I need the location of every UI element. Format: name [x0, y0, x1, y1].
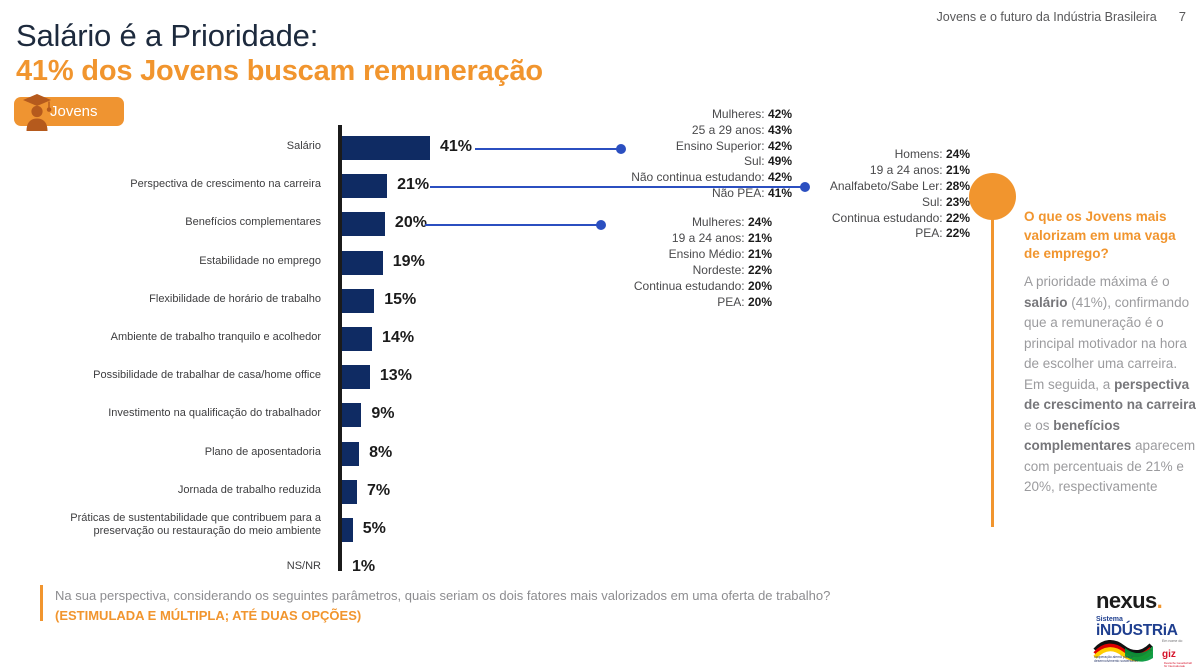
deck-title: Jovens e o futuro da Indústria Brasileir… [937, 10, 1157, 24]
callout-line-label: Nordeste: [693, 263, 748, 277]
callout-line-label: Mulheres: [692, 215, 748, 229]
callout-line-label: Não continua estudando: [631, 170, 768, 184]
footer-question-text: Na sua perspectiva, considerando os segu… [55, 588, 830, 603]
callout-line-label: Ensino Superior: [676, 139, 768, 153]
giz-logo-mark: giz [1162, 650, 1176, 660]
chart-value-label: 21% [397, 176, 429, 194]
nexus-logo-dot: . [1157, 588, 1163, 613]
callout-line-value: 28% [946, 179, 970, 193]
callout-line-label: 25 a 29 anos: [692, 123, 768, 137]
chart-value-label: 9% [371, 405, 394, 423]
callout-line-value: 24% [748, 215, 772, 229]
callout-line: Continua estudando: 20% [634, 279, 772, 295]
chart-bar [342, 442, 359, 466]
callout-line-label: Analfabeto/Sabe Ler: [830, 179, 946, 193]
callout-line: PEA: 20% [634, 295, 772, 311]
callout-line: Continua estudando: 22% [830, 211, 970, 227]
callout-line-value: 22% [946, 226, 970, 240]
callout-line: Ensino Médio: 21% [634, 247, 772, 263]
nexus-logo-text: nexus [1096, 588, 1157, 613]
german-cooperation-caption: cooperação alemã para o desenvolvimento … [1094, 655, 1152, 663]
chart-value-label: 14% [382, 329, 414, 347]
header-bar: Jovens e o futuro da Indústria Brasileir… [937, 9, 1187, 24]
sistema-industria-logo: Sistema iNDÚSTRiA [1096, 616, 1178, 639]
callout-line-value: 22% [946, 211, 970, 225]
chart-bar [342, 212, 385, 236]
callout-line-value: 21% [946, 163, 970, 177]
chart-category-label: Investimento na qualificação do trabalha… [10, 407, 330, 420]
callout-connector-line [425, 224, 600, 226]
callout-line-value: 41% [768, 186, 792, 200]
bar-chart: Salário41%Perspectiva de crescimento na … [0, 125, 960, 575]
page-title-line1: Salário é a Prioridade: [16, 18, 318, 54]
callout-line-label: Continua estudando: [634, 279, 748, 293]
chart-bar [342, 327, 372, 351]
callout-line-label: Ensino Médio: [669, 247, 748, 261]
chart-category-label: NS/NR [10, 560, 330, 573]
callout-connector-dot [800, 182, 810, 192]
callout-line: 19 a 24 anos: 21% [830, 163, 970, 179]
footer-accent-bar [40, 585, 43, 621]
chart-category-label: Benefícios complementares [10, 216, 330, 229]
chart-category-label: Flexibilidade de horário de trabalho [10, 293, 330, 306]
sidebar-body-emphasis: salário [1024, 295, 1068, 310]
chart-value-label: 1% [352, 558, 375, 576]
callout-connector-dot [616, 144, 626, 154]
callout-line: Ensino Superior: 42% [631, 139, 792, 155]
sidebar-marker-circle [969, 173, 1016, 220]
callout-line-label: Homens: [895, 147, 946, 161]
chart-category-label: Estabilidade no emprego [10, 255, 330, 268]
slide-root: Jovens e o futuro da Indústria Brasileir… [0, 0, 1200, 667]
callout-line: Sul: 49% [631, 154, 792, 170]
chart-bar [342, 518, 353, 542]
callout-line: Não continua estudando: 42% [631, 170, 792, 186]
callout-line: Mulheres: 42% [631, 107, 792, 123]
chart-bar [342, 480, 357, 504]
callout-line-label: 19 a 24 anos: [870, 163, 946, 177]
audience-badge-jovens[interactable]: Jovens [14, 97, 124, 126]
chart-category-label: Jornada de trabalho reduzida [10, 484, 330, 497]
chart-bar [342, 403, 361, 427]
nexus-logo: nexus. [1096, 588, 1162, 614]
callout-line-value: 42% [768, 170, 792, 184]
giz-logo: Em nome do gizDeutsche Gesellschaft für … [1162, 640, 1200, 667]
callout-line-value: 21% [748, 247, 772, 261]
footer-question-emphasis: (ESTIMULADA E MÚLTIPLA; ATÉ DUAS OPÇÕES) [55, 608, 361, 623]
chart-bar [342, 251, 383, 275]
chart-category-label: Possibilidade de trabalhar de casa/home … [10, 369, 330, 382]
callout-line-value: 42% [768, 107, 792, 121]
callout-line-label: Não PEA: [712, 186, 768, 200]
callout-line-value: 24% [946, 147, 970, 161]
sidebar-question: O que os Jovens mais valorizam em uma va… [1024, 208, 1186, 264]
chart-category-label: Plano de aposentadoria [10, 446, 330, 459]
chart-value-label: 15% [384, 291, 416, 309]
chart-category-label: Práticas de sustentabilidade que contrib… [10, 512, 330, 538]
callout-line-value: 42% [768, 139, 792, 153]
callout-line-label: 19 a 24 anos: [672, 231, 748, 245]
chart-bar [342, 136, 430, 160]
callout-line-label: Sul: [922, 195, 946, 209]
callout-line-label: PEA: [717, 295, 748, 309]
callout-line: Nordeste: 22% [634, 263, 772, 279]
chart-bar [342, 289, 374, 313]
sidebar-body-segment: e os [1024, 418, 1053, 433]
callout-line-value: 22% [748, 263, 772, 277]
footer-question: Na sua perspectiva, considerando os segu… [55, 586, 915, 626]
chart-value-label: 13% [380, 367, 412, 385]
sidebar-body-text: A prioridade máxima é o salário (41%), c… [1024, 272, 1196, 498]
chart-callout: Homens: 24%19 a 24 anos: 21%Analfabeto/S… [830, 147, 970, 242]
chart-value-label: 19% [393, 253, 425, 271]
page-number: 7 [1179, 9, 1186, 24]
callout-line: PEA: 22% [830, 226, 970, 242]
chart-value-label: 20% [395, 214, 427, 232]
callout-line: Sul: 23% [830, 195, 970, 211]
chart-callout: Mulheres: 42%25 a 29 anos: 43%Ensino Sup… [631, 107, 792, 202]
callout-line-value: 20% [748, 279, 772, 293]
callout-line-value: 21% [748, 231, 772, 245]
chart-value-label: 41% [440, 138, 472, 156]
callout-connector-line [475, 148, 620, 150]
sidebar-body-segment: A prioridade máxima é o [1024, 274, 1170, 289]
callout-line: Analfabeto/Sabe Ler: 28% [830, 179, 970, 195]
callout-line: Mulheres: 24% [634, 215, 772, 231]
callout-line-label: Mulheres: [712, 107, 768, 121]
chart-category-label: Ambiente de trabalho tranquilo e acolhed… [10, 331, 330, 344]
sidebar-marker-line [991, 215, 994, 527]
chart-value-label: 5% [363, 520, 386, 538]
callout-line-value: 23% [946, 195, 970, 209]
chart-category-label: Salário [10, 140, 330, 153]
callout-line-label: PEA: [915, 226, 946, 240]
page-title-line2: 41% dos Jovens buscam remuneração [16, 55, 543, 88]
chart-bar [342, 365, 370, 389]
chart-callout: Mulheres: 24%19 a 24 anos: 21%Ensino Méd… [634, 215, 772, 310]
callout-connector-dot [596, 220, 606, 230]
callout-line-label: Sul: [744, 154, 768, 168]
chart-value-label: 7% [367, 482, 390, 500]
callout-line: 25 a 29 anos: 43% [631, 123, 792, 139]
audience-badge-label: Jovens [50, 103, 98, 120]
chart-value-label: 8% [369, 444, 392, 462]
callout-line: Homens: 24% [830, 147, 970, 163]
chart-category-label: Perspectiva de crescimento na carreira [10, 178, 330, 191]
callout-line-value: 49% [768, 154, 792, 168]
sistema-industria-main: iNDÚSTRiA [1096, 623, 1178, 639]
callout-line: Não PEA: 41% [631, 186, 792, 202]
callout-line: 19 a 24 anos: 21% [634, 231, 772, 247]
callout-line-label: Continua estudando: [832, 211, 946, 225]
callout-line-value: 43% [768, 123, 792, 137]
giz-logo-subtitle: Deutsche Gesellschaft für Internationale… [1164, 662, 1192, 667]
callout-line-value: 20% [748, 295, 772, 309]
chart-bar [342, 174, 387, 198]
